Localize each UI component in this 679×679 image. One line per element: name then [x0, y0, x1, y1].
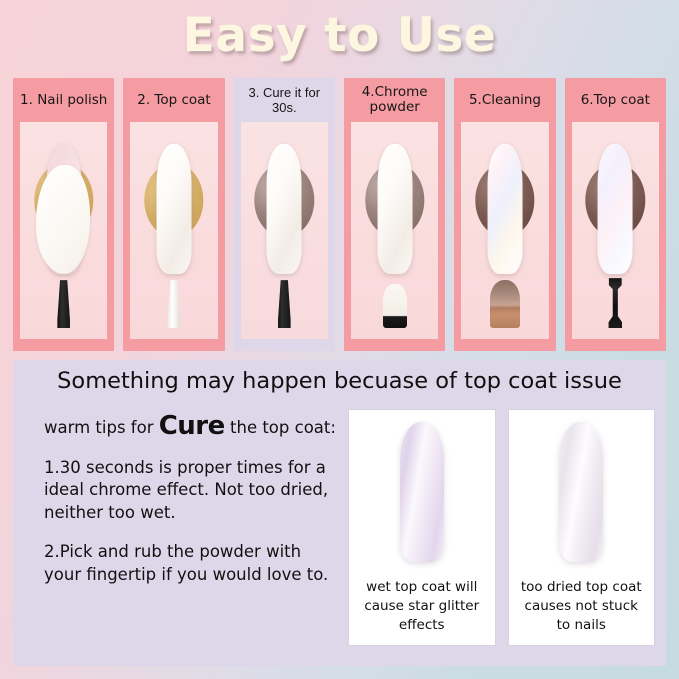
step-photo-4 [351, 122, 438, 339]
step-label-5: 5.Cleaning [454, 78, 555, 122]
tips-intro: warm tips for Cure the top coat: [44, 415, 340, 440]
panel-heading: Something may happen becuase of top coat… [13, 368, 666, 394]
step-card-6: 6.Top coat [565, 78, 666, 351]
result-photo-wet [349, 410, 495, 578]
step-label-2: 2. Top coat [123, 78, 224, 122]
tool-holder [56, 280, 71, 328]
warm-tips-block: warm tips for Cure the top coat: 1.30 se… [44, 415, 340, 603]
result-card-dried: too dried top coat causes not stuck to n… [509, 410, 655, 645]
tool-holder [607, 278, 623, 328]
nail-icon [377, 144, 412, 274]
wand-icon [607, 278, 623, 328]
step-card-5: 5.Cleaning [454, 78, 555, 351]
result-card-wet: wet top coat will cause star glitter eff… [349, 410, 495, 645]
page-title: Easy to Use [0, 8, 679, 63]
tool-holder [383, 284, 407, 328]
makeup-brush-icon [490, 280, 520, 328]
tip-item-2: 2.Pick and rub the powder with your fing… [44, 541, 340, 586]
step-photo-5 [461, 122, 548, 339]
result-caption-dried: too dried top coat causes not stuck to n… [509, 578, 655, 645]
nail-icon [267, 144, 302, 274]
result-cards: wet top coat will cause star glitter eff… [349, 410, 654, 645]
step-label-1: 1. Nail polish [13, 78, 114, 122]
step-card-2: 2. Top coat [123, 78, 224, 351]
polish-smear-icon [36, 165, 90, 274]
black-brush-icon [277, 280, 292, 328]
tool-holder [490, 280, 520, 328]
white-brush-icon [166, 280, 181, 328]
infographic-page: Easy to Use 1. Nail polish 2. Top coat [0, 0, 679, 679]
step-card-4: 4.Chrome powder [344, 78, 445, 351]
step-photo-1 [20, 122, 107, 339]
applicator-icon [383, 284, 407, 328]
tips-keyword-cure: Cure [159, 411, 225, 441]
steps-strip: 1. Nail polish 2. Top coat 3. Cure [13, 78, 666, 351]
tool-holder [277, 280, 292, 328]
step-card-3: 3. Cure it for 30s. [234, 78, 335, 351]
step-photo-2 [130, 122, 217, 339]
black-brush-icon [56, 280, 71, 328]
step-label-3: 3. Cure it for 30s. [234, 78, 335, 122]
tips-intro-before: warm tips for [44, 418, 159, 437]
step-card-1: 1. Nail polish [13, 78, 114, 351]
step-label-6: 6.Top coat [565, 78, 666, 122]
nail-icon [400, 422, 444, 562]
nail-icon [157, 144, 192, 274]
tool-holder [166, 280, 181, 328]
tip-item-1: 1.30 seconds is proper times for a ideal… [44, 457, 340, 525]
nail-icon [598, 144, 633, 274]
tips-intro-after: the top coat: [225, 418, 336, 437]
step-photo-3 [241, 122, 328, 339]
step-label-4: 4.Chrome powder [344, 78, 445, 122]
step-photo-6 [572, 122, 659, 339]
nail-icon [488, 144, 523, 274]
result-caption-wet: wet top coat will cause star glitter eff… [349, 578, 495, 645]
result-photo-dried [509, 410, 655, 578]
nail-icon [559, 422, 603, 562]
issues-panel: Something may happen becuase of top coat… [13, 360, 666, 666]
